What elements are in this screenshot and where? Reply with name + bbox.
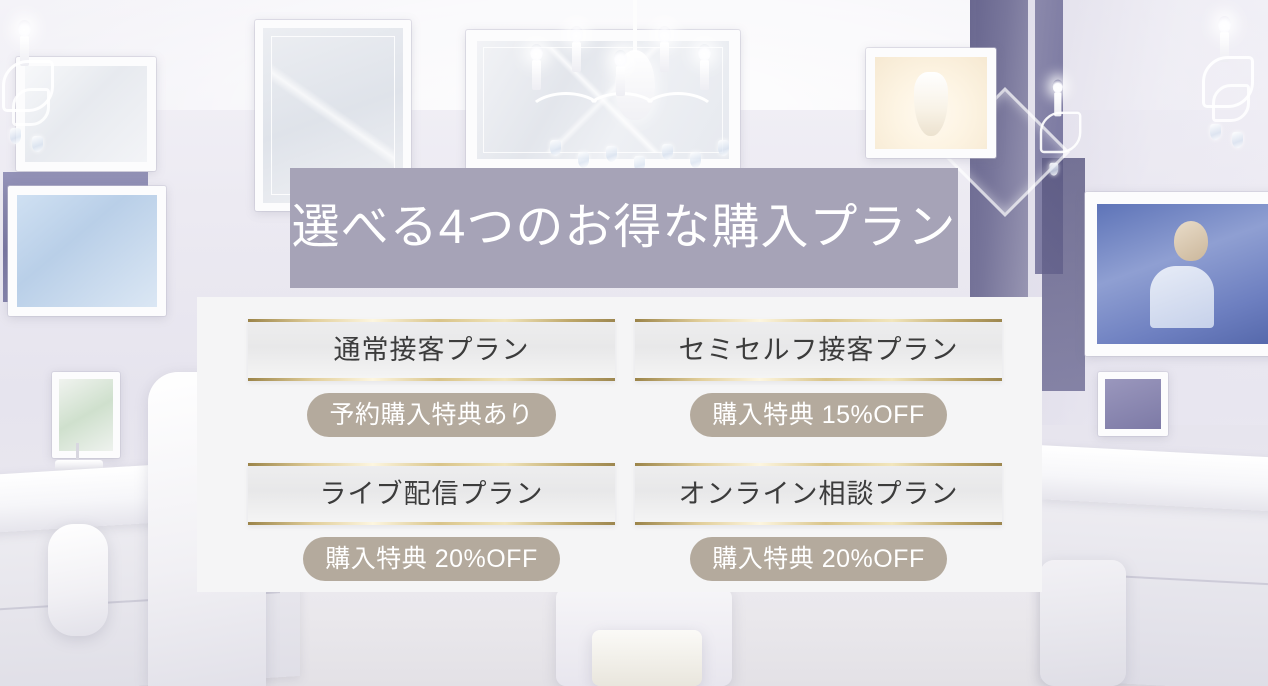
plan-badge-row: 購入特典 20%OFF <box>248 537 615 581</box>
salon-chair-icon <box>1040 560 1126 686</box>
plan-name-box: オンライン相談プラン <box>635 463 1002 525</box>
plans-panel: 通常接客プラン 予約購入特典あり セミセルフ接客プラン 購入特典 15%OFF … <box>197 297 1042 592</box>
plan-name-box: ライブ配信プラン <box>248 463 615 525</box>
crystal-drop-icon <box>718 140 729 156</box>
plan-name: セミセルフ接客プラン <box>679 337 959 364</box>
salon-stool-icon <box>592 630 702 686</box>
candle-flame-icon <box>18 20 31 37</box>
plan-name: 通常接客プラン <box>334 337 530 364</box>
plan-benefit-badge: 予約購入特典あり <box>307 393 555 437</box>
chandelier-candle <box>572 42 581 72</box>
chandelier-candle <box>616 66 625 96</box>
plan-name: ライブ配信プラン <box>320 481 544 508</box>
plan-benefit-badge: 購入特典 20%OFF <box>303 537 559 581</box>
candle-flame-icon <box>698 44 711 61</box>
crystal-drop-icon <box>606 146 617 162</box>
mirror-glass <box>17 195 157 307</box>
candle-flame-icon <box>1218 16 1231 33</box>
plan-badge-row: 購入特典 20%OFF <box>635 537 1002 581</box>
candle-flame-icon <box>1053 80 1063 94</box>
crystal-drop-icon <box>1210 124 1221 140</box>
page-root: 選べる4つのお得な購入プラン 通常接客プラン 予約購入特典あり セミセルフ接客プ… <box>0 0 1268 686</box>
plan-card-online-consultation[interactable]: オンライン相談プラン 購入特典 20%OFF <box>635 463 1002 581</box>
chandelier-icon <box>520 0 750 175</box>
crystal-drop-icon <box>662 144 673 160</box>
candle-flame-icon <box>570 26 583 43</box>
candle-flame-icon <box>658 26 671 43</box>
crystal-drop-icon <box>690 152 701 168</box>
person-icon <box>1174 221 1208 261</box>
chandelier-arm <box>638 92 718 140</box>
table-mirror-icon <box>52 372 120 458</box>
crystal-drop-icon <box>10 128 21 144</box>
wall-sconce-icon <box>1196 24 1266 144</box>
lit-alcove-icon <box>866 48 996 158</box>
mirror-glass <box>59 379 113 451</box>
crystal-drop-icon <box>32 136 43 152</box>
sconce-scroll <box>12 88 50 126</box>
crystal-drop-icon <box>1232 132 1243 148</box>
plan-card-live-streaming[interactable]: ライブ配信プラン 購入特典 20%OFF <box>248 463 615 581</box>
chandelier-candle <box>660 42 669 72</box>
candle-flame-icon <box>614 50 627 67</box>
plan-name: オンライン相談プラン <box>679 481 959 508</box>
plan-badge-row: 購入特典 15%OFF <box>635 393 1002 437</box>
plans-grid: 通常接客プラン 予約購入特典あり セミセルフ接客プラン 購入特典 15%OFF … <box>248 319 1002 581</box>
crystal-drop-icon <box>550 140 561 156</box>
chandelier-candle <box>700 60 709 90</box>
plan-name-box: 通常接客プラン <box>248 319 615 381</box>
wall-sconce-icon <box>0 28 66 148</box>
sconce-scroll <box>1212 84 1250 122</box>
framed-mirror-icon <box>8 186 166 316</box>
plan-benefit-badge: 購入特典 15%OFF <box>690 393 946 437</box>
title-banner: 選べる4つのお得な購入プラン <box>290 168 958 288</box>
framed-mirror-icon <box>1098 372 1168 436</box>
chandelier-candle <box>532 60 541 90</box>
page-title: 選べる4つのお得な購入プラン <box>292 204 957 252</box>
plan-badge-row: 予約購入特典あり <box>248 393 615 437</box>
display-screen-icon <box>1085 192 1268 356</box>
crystal-drop-icon <box>1049 163 1058 176</box>
wall-sconce-icon <box>1035 86 1091 182</box>
candle-flame-icon <box>530 44 543 61</box>
salon-chair-icon <box>48 524 108 636</box>
person-body <box>1150 266 1214 328</box>
plan-card-regular[interactable]: 通常接客プラン 予約購入特典あり <box>248 319 615 437</box>
purple-wall-panel-far-right <box>1042 158 1085 391</box>
mirror-glass <box>1105 379 1161 429</box>
plan-benefit-badge: 購入特典 20%OFF <box>690 537 946 581</box>
plan-name-box: セミセルフ接客プラン <box>635 319 1002 381</box>
plan-card-semi-self[interactable]: セミセルフ接客プラン 購入特典 15%OFF <box>635 319 1002 437</box>
crystal-drop-icon <box>578 152 589 168</box>
sconce-scroll <box>1040 112 1082 154</box>
